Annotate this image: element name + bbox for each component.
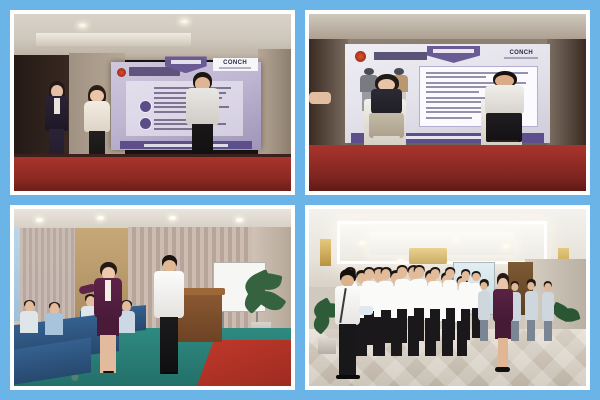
trainee: [443, 269, 457, 338]
ceiling-soffit: [36, 33, 191, 45]
conch-seal-icon: [355, 51, 366, 62]
trainer-woman-purple-suit: [92, 262, 125, 379]
photo-frame-top-left[interactable]: CONCH: [10, 10, 295, 195]
background-guest: [542, 283, 554, 340]
presenter-woman-dark-suit: [44, 81, 69, 164]
photo-frame-bottom-left[interactable]: [10, 205, 295, 390]
torso: [84, 101, 111, 133]
legs: [486, 113, 522, 142]
legs: [100, 335, 116, 374]
slide-title-bar: [374, 52, 427, 60]
wall-right-panel: [547, 39, 586, 149]
background-guest: [478, 282, 490, 340]
torso: [94, 278, 122, 318]
torso: [371, 89, 403, 114]
torso: [154, 271, 183, 318]
ceiling-light-icon: [78, 23, 87, 28]
conch-seal-icon: [117, 68, 126, 77]
ceiling-light-icon: [236, 218, 243, 222]
photo-frame-bottom-right[interactable]: [305, 205, 590, 390]
legs: [369, 113, 404, 138]
trainee: [395, 267, 410, 341]
slide-body: [126, 81, 243, 136]
red-stage-platform: [309, 145, 586, 191]
conch-logo: CONCH: [213, 58, 258, 70]
trainee: [428, 269, 442, 340]
skirt: [97, 317, 120, 336]
red-stage-platform: [14, 157, 291, 191]
ceiling-light-icon: [36, 218, 43, 222]
wall-right-panel: [258, 49, 291, 162]
conch-logo-underline: [219, 67, 251, 69]
photo-collage: CONCH: [0, 0, 600, 400]
trainee: [378, 269, 393, 342]
photo-top-right[interactable]: CONCH: [309, 14, 586, 191]
trainee: [411, 267, 426, 340]
conch-logo: CONCH: [497, 48, 546, 61]
staff-man-foreground: [334, 269, 362, 379]
torso: [45, 96, 68, 131]
bullet-badge-icon: [139, 117, 152, 130]
photo-top-left[interactable]: CONCH: [14, 14, 291, 191]
background-guest: [525, 282, 537, 340]
conch-logo-text: CONCH: [223, 60, 247, 66]
trainer-woman-purple-suit: [492, 273, 514, 372]
conch-logo-underline: [504, 57, 538, 59]
seated-man: [481, 71, 528, 152]
photo-bottom-left[interactable]: [14, 209, 291, 386]
conch-logo-text: CONCH: [510, 50, 534, 56]
face-mask-icon: [359, 306, 373, 315]
photo-frame-top-right[interactable]: CONCH: [305, 10, 590, 195]
photo-bottom-right[interactable]: [309, 209, 586, 386]
torso: [186, 88, 219, 126]
seated-attendee: [20, 301, 39, 333]
legs: [160, 317, 179, 374]
pointing-arm: [309, 92, 331, 104]
torso: [485, 85, 525, 114]
slide-banner-chevron: [427, 46, 480, 63]
seated-woman: [364, 74, 408, 148]
seated-attendee: [44, 303, 63, 335]
bullet-badge-icon: [139, 100, 152, 113]
walking-man-white-shirt: [153, 255, 186, 379]
